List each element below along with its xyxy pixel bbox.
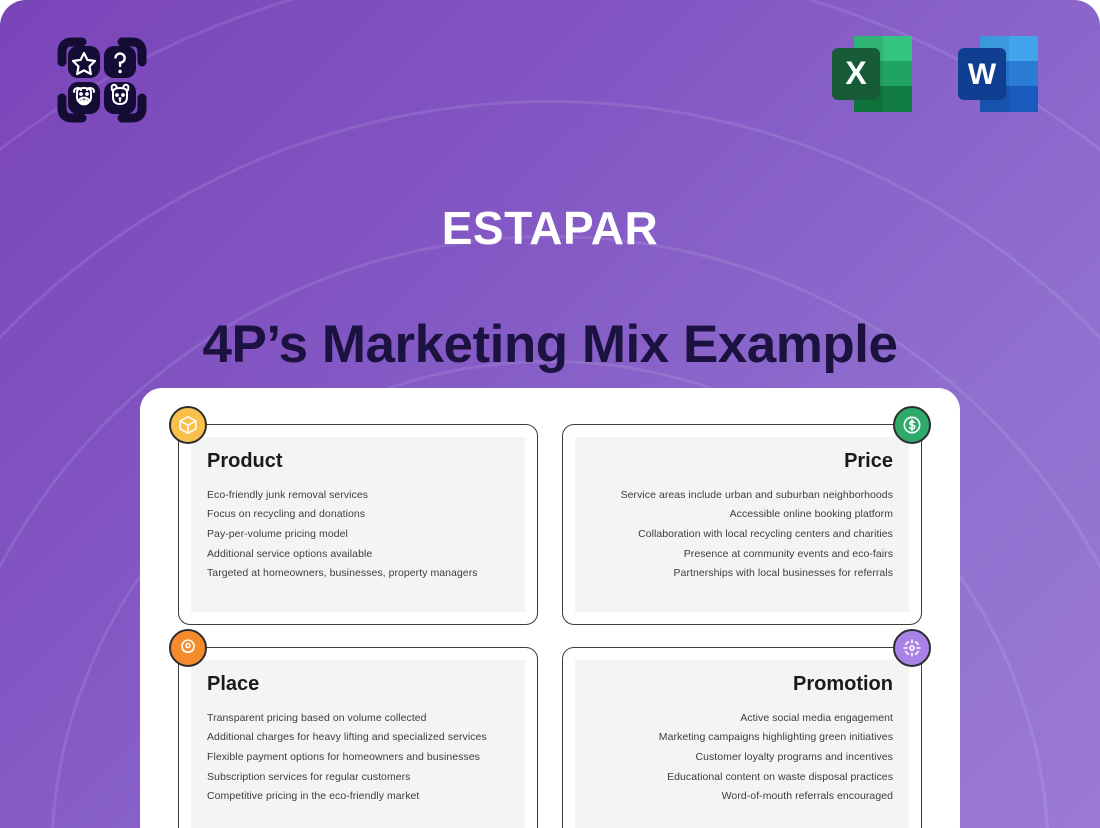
dollar-coin-icon — [893, 406, 931, 444]
svg-text:X: X — [845, 55, 867, 91]
quadrant-list: Transparent pricing based on volume coll… — [207, 708, 509, 806]
quadrant-grid: Product Eco-friendly junk removal servic… — [178, 424, 922, 828]
list-item: Active social media engagement — [591, 708, 893, 728]
pet-scan-logo-icon[interactable] — [52, 30, 152, 130]
quadrant-title: Place — [207, 674, 509, 694]
quadrant-promotion[interactable]: Promotion Active social media engagement… — [562, 647, 922, 828]
quadrant-promotion-body: Promotion Active social media engagement… — [575, 660, 909, 828]
list-item: Subscription services for regular custom… — [207, 767, 509, 787]
list-item: Presence at community events and eco-fai… — [591, 544, 893, 564]
quadrant-title: Price — [591, 451, 893, 471]
list-item: Transparent pricing based on volume coll… — [207, 708, 509, 728]
list-item: Flexible payment options for homeowners … — [207, 747, 509, 767]
list-item: Educational content on waste disposal pr… — [591, 767, 893, 787]
excel-icon[interactable]: X — [822, 26, 922, 126]
list-item: Eco-friendly junk removal services — [207, 485, 509, 505]
list-item: Additional service options available — [207, 544, 509, 564]
quadrant-title: Product — [207, 451, 509, 471]
quadrant-place[interactable]: Place Transparent pricing based on volum… — [178, 647, 538, 828]
slide-canvas: X W ESTAPAR 4P’s Marketing Mix Example — [0, 0, 1100, 828]
list-item: Pay-per-volume pricing model — [207, 524, 509, 544]
list-item: Customer loyalty programs and incentives — [591, 747, 893, 767]
svg-text:W: W — [968, 58, 997, 91]
target-crosshair-icon — [893, 629, 931, 667]
office-app-icons: X W — [822, 26, 1048, 126]
list-item: Competitive pricing in the eco-friendly … — [207, 787, 509, 807]
quadrant-place-body: Place Transparent pricing based on volum… — [191, 660, 525, 828]
quadrant-product[interactable]: Product Eco-friendly junk removal servic… — [178, 424, 538, 625]
quadrant-list: Active social media engagement Marketing… — [591, 708, 893, 806]
list-item: Word-of-mouth referrals encouraged — [591, 787, 893, 807]
brand-title: ESTAPAR — [0, 205, 1100, 251]
marketing-mix-board: Product Eco-friendly junk removal servic… — [140, 388, 960, 828]
list-item: Focus on recycling and donations — [207, 505, 509, 525]
quadrant-list: Eco-friendly junk removal services Focus… — [207, 485, 509, 583]
list-item: Collaboration with local recycling cente… — [591, 524, 893, 544]
list-item: Accessible online booking platform — [591, 505, 893, 525]
list-item: Additional charges for heavy lifting and… — [207, 728, 509, 748]
list-item: Targeted at homeowners, businesses, prop… — [207, 564, 509, 584]
quadrant-title: Promotion — [591, 674, 893, 694]
list-item: Service areas include urban and suburban… — [591, 485, 893, 505]
quadrant-product-body: Product Eco-friendly junk removal servic… — [191, 437, 525, 612]
word-icon[interactable]: W — [948, 26, 1048, 126]
quadrant-price-body: Price Service areas include urban and su… — [575, 437, 909, 612]
box-icon — [169, 406, 207, 444]
location-pin-icon — [169, 629, 207, 667]
list-item: Marketing campaigns highlighting green i… — [591, 728, 893, 748]
list-item: Partnerships with local businesses for r… — [591, 564, 893, 584]
quadrant-price[interactable]: Price Service areas include urban and su… — [562, 424, 922, 625]
page-title: 4P’s Marketing Mix Example — [0, 318, 1100, 371]
quadrant-list: Service areas include urban and suburban… — [591, 485, 893, 583]
